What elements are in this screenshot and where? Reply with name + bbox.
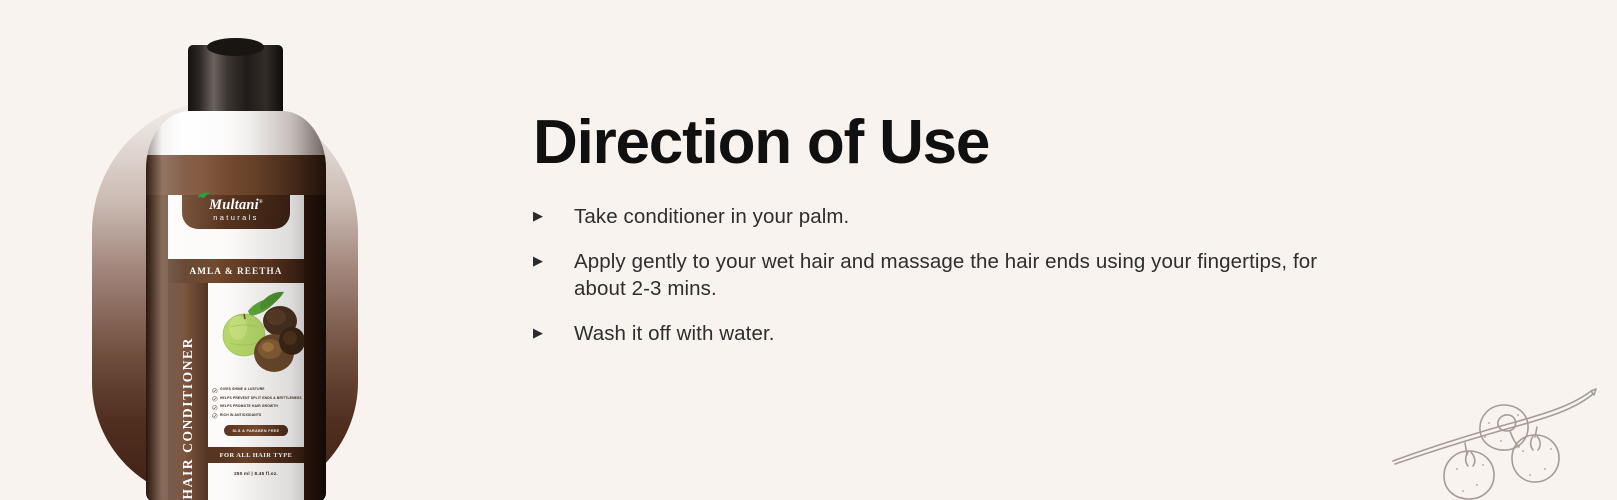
leaf-icon [197, 192, 210, 199]
list-item: ▶ Apply gently to your wet hair and mass… [533, 248, 1433, 303]
list-item: ▶ Take conditioner in your palm. [533, 203, 1433, 231]
free-from-label: SLS & PARABEN FREE [232, 429, 279, 433]
product-bottle: Multani® naturals AMLA & REETHA HAIR CON… [146, 45, 326, 500]
volume-label: 250 ml | 8.45 fl.oz. [208, 471, 304, 476]
free-from-badge: SLS & PARABEN FREE [224, 425, 288, 436]
product-type-strip: HAIR CONDITIONER [168, 283, 208, 500]
benefit-label: HELPS PROMOTE HAIR GROWTH [220, 404, 278, 408]
steps-list: ▶ Take conditioner in your palm. ▶ Apply… [533, 203, 1433, 348]
step-text: Wash it off with water. [574, 320, 775, 348]
check-icon [212, 388, 218, 394]
step-text: Apply gently to your wet hair and massag… [574, 248, 1374, 303]
check-icon [212, 405, 218, 411]
variant-label: AMLA & REETHA [190, 266, 283, 276]
bottle-body: Multani® naturals AMLA & REETHA HAIR CON… [146, 111, 326, 500]
check-icon [212, 413, 218, 419]
product-type-label: HAIR CONDITIONER [180, 337, 196, 500]
benefits-list: GIVES SHINE & LUSTURE HELPS PREVENT SPLI… [212, 387, 302, 421]
benefit-label: GIVES SHINE & LUSTURE [220, 387, 265, 391]
product-visual: Multani® naturals AMLA & REETHA HAIR CON… [92, 100, 358, 500]
amla-branch-illustration-icon [1385, 365, 1605, 500]
variant-band: AMLA & REETHA [168, 259, 304, 283]
brand-plate [168, 195, 304, 237]
label-white-panel [168, 237, 304, 259]
benefit-label: RICH IN ANTIOXIDANTS [220, 413, 261, 417]
benefit-label: HELPS PREVENT SPLIT ENDS & BRITTLENESS [220, 396, 302, 400]
bottle-label: Multani® naturals AMLA & REETHA HAIR CON… [146, 195, 326, 500]
amla-reetha-photo [208, 283, 304, 389]
triangle-bullet-icon: ▶ [533, 203, 574, 222]
direction-of-use-banner: Multani® naturals AMLA & REETHA HAIR CON… [0, 0, 1617, 500]
check-icon [212, 396, 218, 402]
benefit-item: HELPS PREVENT SPLIT ENDS & BRITTLENESS [212, 396, 302, 402]
benefit-item: HELPS PROMOTE HAIR GROWTH [212, 404, 302, 410]
hair-type-band: FOR ALL HAIR TYPE [208, 447, 304, 463]
list-item: ▶ Wash it off with water. [533, 320, 1433, 348]
copy-block: Direction of Use ▶ Take conditioner in y… [533, 110, 1433, 348]
triangle-bullet-icon: ▶ [533, 248, 574, 267]
benefit-item: RICH IN ANTIOXIDANTS [212, 413, 302, 419]
triangle-bullet-icon: ▶ [533, 320, 574, 339]
page-title: Direction of Use [533, 110, 1433, 175]
step-text: Take conditioner in your palm. [574, 203, 849, 231]
benefit-item: GIVES SHINE & LUSTURE [212, 387, 302, 393]
hair-type-label: FOR ALL HAIR TYPE [220, 452, 293, 459]
label-info-card: GIVES SHINE & LUSTURE HELPS PREVENT SPLI… [208, 283, 304, 500]
